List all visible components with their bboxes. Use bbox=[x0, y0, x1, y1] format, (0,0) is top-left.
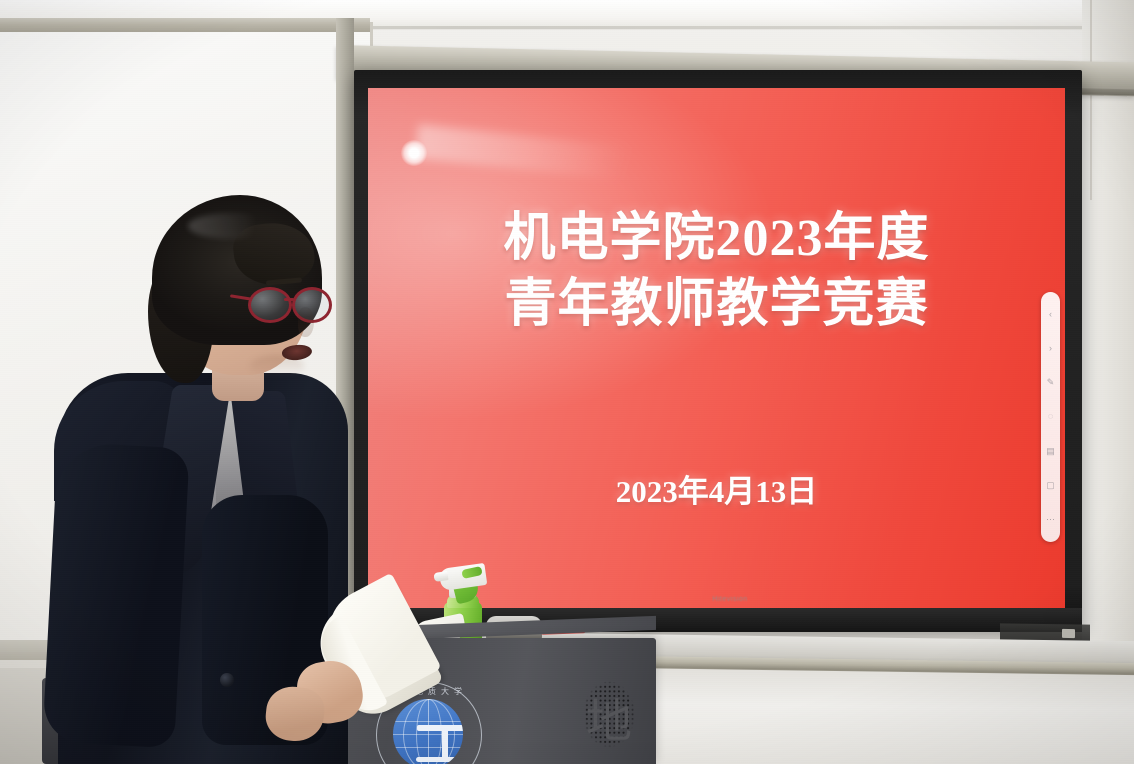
chevron-left-icon[interactable]: ‹ bbox=[1045, 309, 1056, 320]
whiteboard-top-frame bbox=[0, 18, 370, 32]
emblem-glyph-base bbox=[416, 757, 463, 762]
more-icon[interactable]: ⋯ bbox=[1045, 514, 1056, 525]
screen-glare-streak bbox=[415, 124, 717, 189]
photo-scene: 机电学院2023年度 青年教师教学竞赛 2023年4月13日 ‹ › ✎ ◌ ▤… bbox=[0, 0, 1134, 764]
presenter-nose bbox=[298, 307, 314, 337]
presenter-jacket-button bbox=[220, 673, 234, 687]
display-brand-label: Hitevision bbox=[660, 596, 800, 603]
emblem-parallel-3 bbox=[393, 747, 463, 748]
presenter-sleeve-left bbox=[42, 442, 190, 748]
screen-glare-dot bbox=[401, 140, 427, 166]
screenshot-icon[interactable]: ▢ bbox=[1045, 480, 1056, 491]
presenter-hair-highlight bbox=[188, 213, 278, 239]
pen-icon[interactable]: ✎ bbox=[1045, 377, 1056, 388]
glasses-lens-left bbox=[248, 287, 292, 323]
slide-date: 2023年4月13日 bbox=[368, 466, 1065, 511]
spray-bottle-nozzle bbox=[433, 571, 448, 582]
grille-character: 地 bbox=[572, 678, 646, 758]
screen-floating-toolbar[interactable]: ‹ › ✎ ◌ ▤ ▢ ⋯ bbox=[1041, 292, 1060, 542]
presenter-glasses bbox=[248, 287, 334, 321]
chevron-right-icon[interactable]: › bbox=[1045, 343, 1056, 354]
grid-icon[interactable]: ▤ bbox=[1045, 446, 1056, 457]
presentation-screen[interactable]: 机电学院2023年度 青年教师教学竞赛 2023年4月13日 ‹ › ✎ ◌ ▤… bbox=[368, 88, 1065, 608]
ledge-cable-slot bbox=[1000, 623, 1090, 640]
right-wall-seam bbox=[1090, 0, 1092, 200]
emblem-parallel-2 bbox=[393, 734, 463, 735]
presenter bbox=[30, 195, 400, 764]
slide-title: 机电学院2023年度 青年教师教学竞赛 bbox=[368, 206, 1065, 338]
ledge-button[interactable] bbox=[1062, 629, 1075, 638]
eraser-icon[interactable]: ◌ bbox=[1045, 411, 1056, 422]
emblem-glyph-top bbox=[417, 725, 463, 731]
